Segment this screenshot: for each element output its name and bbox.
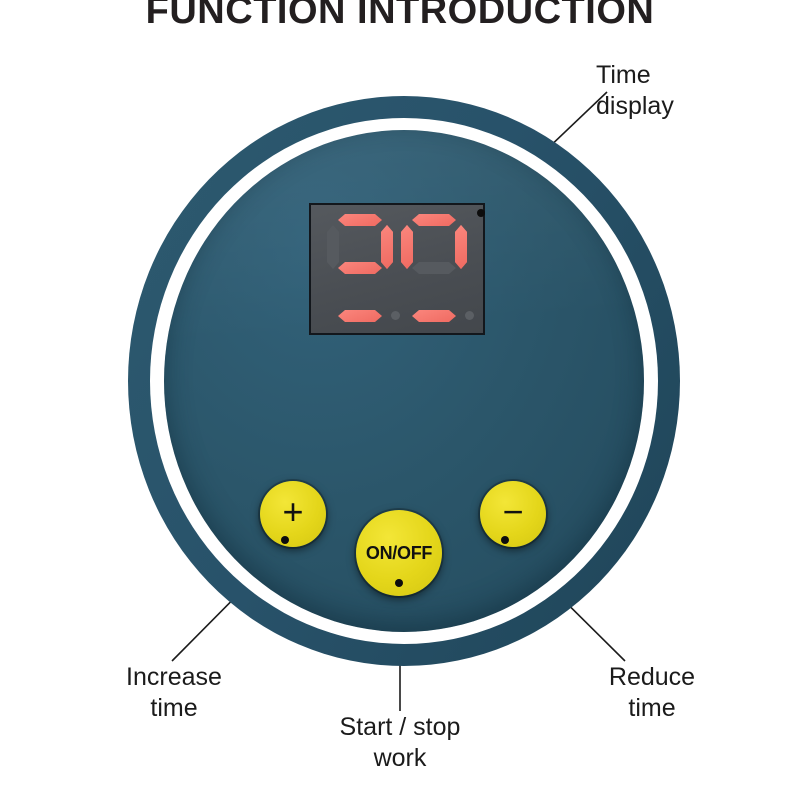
callout-label-start-stop-work: Start / stop work <box>308 712 492 773</box>
callout-label-reduce-time: Reduce time <box>566 662 738 723</box>
anchor-dot-display <box>477 209 485 217</box>
reduce-time-button[interactable]: − <box>480 481 546 547</box>
segment-e <box>401 225 413 269</box>
anchor-dot-onoff <box>395 579 403 587</box>
display-digit-1 <box>327 214 393 322</box>
anchor-dot-increase <box>281 536 289 544</box>
anchor-dot-reduce <box>501 536 509 544</box>
timer-device: + ON/OFF − <box>128 96 680 666</box>
segment-e <box>327 225 339 269</box>
segment-c <box>455 225 467 269</box>
segment-g <box>412 262 456 274</box>
page-title: FUNCTION INTRODUCTION <box>0 0 800 33</box>
display-digit-2 <box>401 214 467 322</box>
callout-label-time-display: Time display <box>596 60 756 121</box>
time-display-panel <box>309 203 485 335</box>
segment-a <box>412 214 456 226</box>
segment-d <box>338 310 382 322</box>
onoff-button-label: ON/OFF <box>366 543 432 564</box>
segment-a <box>338 214 382 226</box>
segment-d <box>412 310 456 322</box>
callout-label-increase-time: Increase time <box>88 662 260 723</box>
plus-icon: + <box>282 494 303 530</box>
segment-g <box>338 262 382 274</box>
increase-time-button[interactable]: + <box>260 481 326 547</box>
decimal-point-icon <box>391 311 400 320</box>
segment-c <box>381 225 393 269</box>
minus-icon: − <box>502 494 523 530</box>
decimal-point-icon <box>465 311 474 320</box>
